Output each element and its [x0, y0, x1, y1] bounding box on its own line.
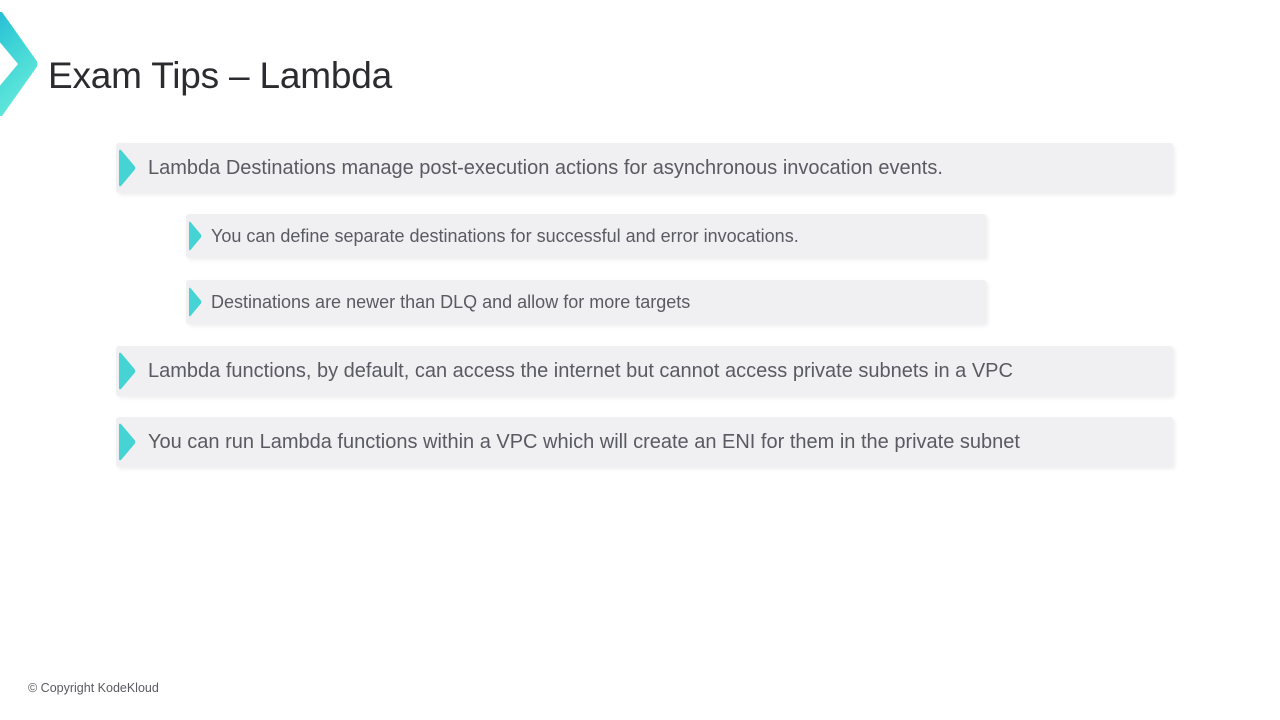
list-item: Lambda functions, by default, can access… — [116, 346, 1173, 396]
list-item-label: Lambda functions, by default, can access… — [148, 358, 1013, 384]
triangle-right-icon — [118, 423, 136, 461]
bullet-list: Lambda Destinations manage post-executio… — [0, 143, 1280, 488]
list-item: Lambda Destinations manage post-executio… — [116, 143, 1173, 193]
list-item-label: Lambda Destinations manage post-executio… — [148, 155, 943, 181]
triangle-right-icon — [118, 352, 136, 390]
list-item: You can define separate destinations for… — [186, 214, 986, 258]
chevron-right-icon — [0, 8, 38, 120]
list-item: Destinations are newer than DLQ and allo… — [186, 280, 986, 324]
list-item-label: You can define separate destinations for… — [211, 224, 799, 248]
triangle-right-icon — [188, 221, 202, 251]
list-item-label: You can run Lambda functions within a VP… — [148, 429, 1020, 455]
page-title: Exam Tips – Lambda — [48, 52, 392, 100]
list-item-label: Destinations are newer than DLQ and allo… — [211, 290, 690, 314]
copyright-notice: © Copyright KodeKloud — [28, 680, 159, 696]
triangle-right-icon — [188, 287, 202, 317]
triangle-right-icon — [118, 149, 136, 187]
list-item: You can run Lambda functions within a VP… — [116, 417, 1173, 467]
